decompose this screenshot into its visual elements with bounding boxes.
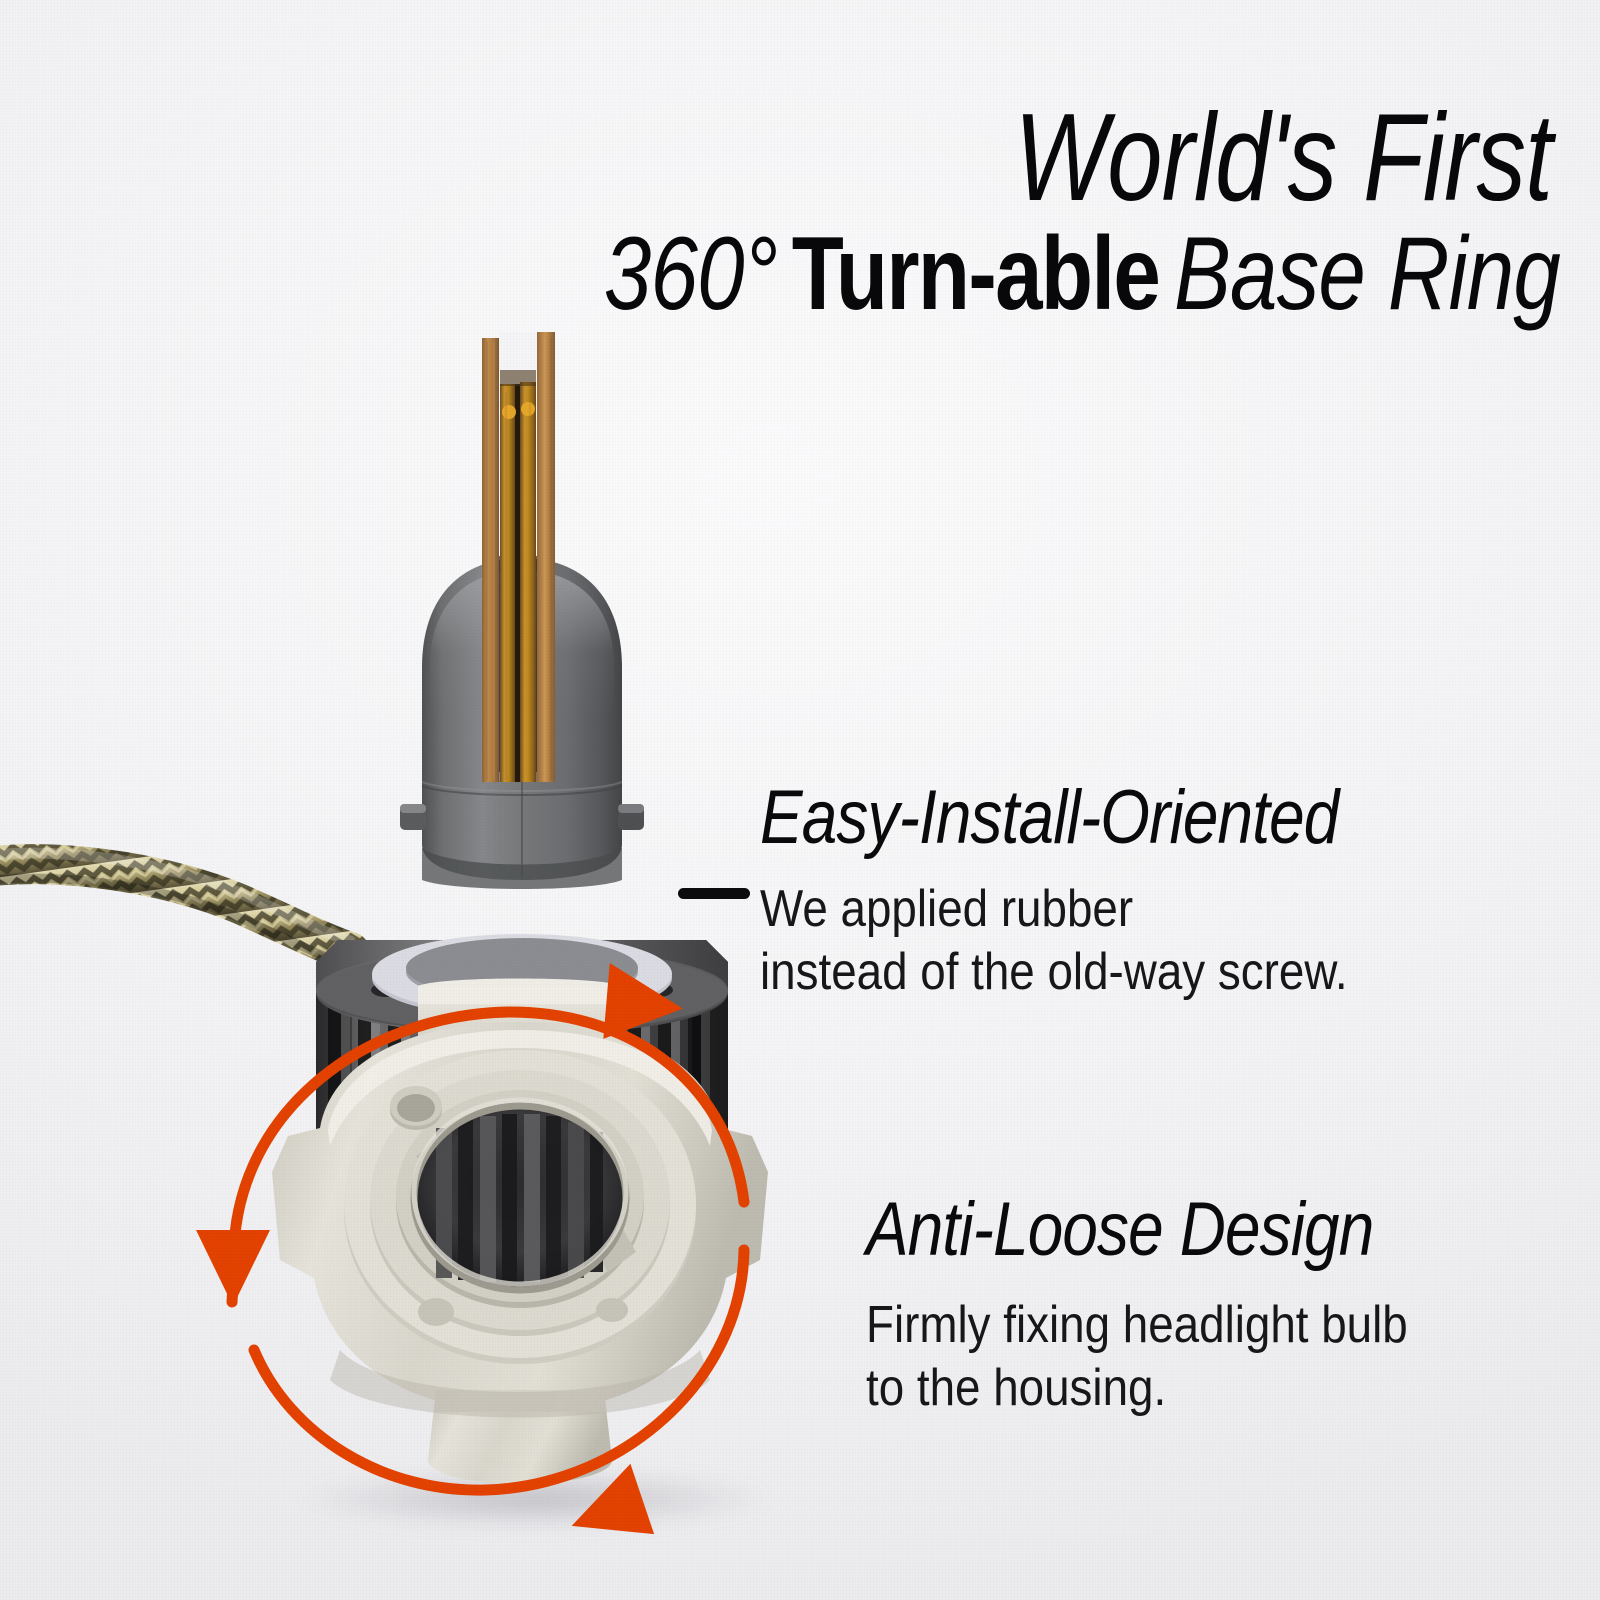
poster-canvas: World's First 360° Turn-able Base Ring E… — [0, 0, 1600, 1600]
headline-line-2: 360° Turn-able Base Ring — [604, 222, 1560, 326]
callout-anti-loose: Anti-Loose Design Firmly fixing headligh… — [866, 1192, 1482, 1421]
callout-easy-install: Easy-Install-Oriented We applied rubber … — [760, 780, 1449, 1005]
headline-line-1: World's First — [1014, 96, 1552, 220]
rotation-arrow — [170, 950, 790, 1570]
headline-degrees: 360° — [604, 222, 777, 326]
callout-dash-leader-icon — [678, 888, 750, 899]
headline-accent-turnable: Turn-able — [792, 222, 1159, 326]
callout-easy-install-body: We applied rubber instead of the old-way… — [760, 878, 1366, 1005]
led-blade-stack — [480, 312, 560, 782]
callout-anti-loose-body-line-1: Firmly fixing headlight bulb — [866, 1294, 1408, 1357]
headline-base-ring: Base Ring — [1174, 222, 1560, 326]
callout-anti-loose-body: Firmly fixing headlight bulb to the hous… — [866, 1294, 1408, 1421]
callout-anti-loose-body-line-2: to the housing. — [866, 1357, 1408, 1420]
callout-easy-install-title: Easy-Install-Oriented — [760, 780, 1338, 856]
callout-anti-loose-title: Anti-Loose Design — [866, 1192, 1383, 1268]
callout-easy-install-body-line-2: instead of the old-way screw. — [760, 941, 1366, 1004]
arrowhead-left-down — [196, 1230, 270, 1306]
callout-easy-install-body-line-1: We applied rubber — [760, 878, 1366, 941]
arrowhead-top-right — [577, 963, 686, 1065]
